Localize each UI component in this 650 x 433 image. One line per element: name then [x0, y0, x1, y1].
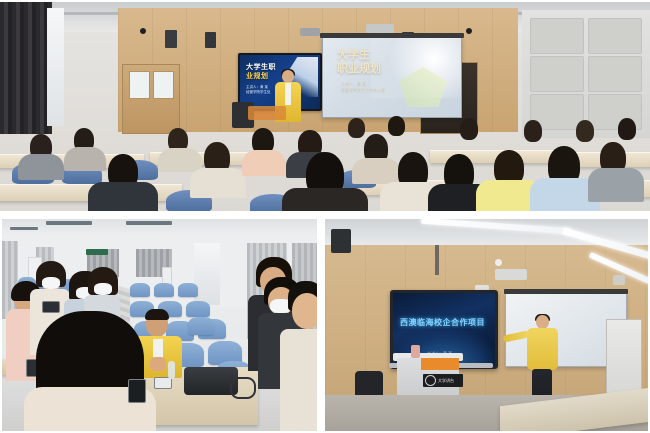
seat [188, 317, 214, 335]
photo-speaker-presenting[interactable]: 西澳临海校企合作项目 主讲人：黄 某 大学讲台 [325, 219, 648, 431]
projector-icon [300, 28, 320, 36]
smartphone-icon [128, 379, 146, 403]
projector-icon [495, 269, 527, 280]
face-mask-icon [94, 283, 112, 295]
audience-shoulders [190, 168, 246, 198]
water-bottle [168, 361, 175, 379]
audience-head [460, 118, 478, 140]
door-right[interactable] [606, 319, 642, 397]
photo-collage: 大学生职 业规划 主讲人：黄 某 经管学院学生处 大学生 职业规划 主讲人：黄 … [0, 0, 650, 433]
audience-shoulders [88, 182, 158, 211]
acoustic-panel [530, 18, 584, 54]
presenter-shirt [285, 83, 291, 105]
wall-speaker-icon [165, 30, 177, 48]
tv-slide-subtitle: 主讲人：黄 某 经管学院学生处 [246, 85, 271, 95]
presenter-yellow-jacket [527, 328, 558, 370]
audience-shoulders [158, 148, 202, 172]
projection-screen[interactable]: 大学生 职业规划 主讲人：黄 某 经管学院学生工作办公室 [322, 37, 462, 118]
lectern-logo-text: 大学讲台 [438, 379, 454, 383]
lectern-accent-stripe [421, 358, 459, 370]
audience-shoulders [352, 158, 400, 184]
ceiling-light-icon [10, 227, 38, 230]
audience-head [524, 120, 542, 142]
ceiling-light-icon [46, 221, 92, 225]
seat [178, 283, 198, 297]
ceiling-sensor-icon [495, 259, 502, 266]
audience-shoulders [282, 188, 368, 211]
ceiling-light-icon [126, 221, 172, 225]
seat [154, 283, 174, 297]
photo-students-discussion[interactable] [2, 219, 317, 431]
wall-speaker-icon [205, 32, 216, 48]
audience-shoulders [242, 150, 286, 176]
spotlight-icon [613, 275, 625, 285]
podium-accent [248, 106, 286, 120]
door-glass [153, 71, 174, 99]
student-standing-foreground [284, 281, 317, 431]
projector-icon [366, 24, 394, 33]
speaker-hair [145, 309, 169, 320]
window-left [47, 8, 64, 126]
presenter-head [536, 315, 549, 329]
audience-head [348, 118, 365, 138]
seat [130, 283, 150, 297]
wall-speaker-icon [331, 229, 351, 253]
acoustic-panel [588, 56, 642, 92]
tv-slide-title: 大学生职 业规划 [246, 63, 276, 81]
seat [186, 301, 210, 317]
student-head [292, 293, 317, 329]
bag-strap [230, 377, 256, 399]
mic-boom [435, 245, 439, 275]
audience-head [576, 120, 594, 142]
spotlight-icon [466, 28, 472, 34]
door-glass [129, 71, 150, 99]
audience-shoulders [588, 168, 644, 202]
spotlight-icon [140, 28, 146, 34]
acoustic-panel [530, 56, 584, 92]
audience-shoulders [18, 154, 64, 180]
br-slide-title: 西澳临海校企合作项目 [400, 317, 485, 328]
exit-sign-icon [86, 249, 108, 255]
desk-item [411, 345, 420, 358]
face-mask-icon [42, 277, 60, 289]
projection-screen-housing [504, 289, 628, 294]
audience-head [388, 116, 405, 136]
student-top [280, 329, 317, 431]
door-left[interactable] [122, 64, 180, 134]
audience-shoulders [64, 147, 106, 171]
university-seal-icon [425, 375, 436, 386]
speaker-hands [150, 357, 166, 371]
projector-slide-title: 大学生 职业规划 [337, 48, 381, 76]
projector-slide-subtitle: 主讲人：黄 某 经管学院学生工作办公室 [341, 82, 385, 94]
smartphone-icon [42, 301, 60, 313]
acoustic-panel [588, 18, 642, 54]
lectern-university-logo: 大学讲台 [423, 374, 463, 387]
photo-lecture-hall-wide[interactable]: 大学生职 业规划 主讲人：黄 某 经管学院学生处 大学生 职业规划 主讲人：黄 … [0, 2, 650, 211]
window [194, 243, 220, 305]
audience-head [618, 118, 636, 140]
window-curtain-left [0, 2, 52, 134]
